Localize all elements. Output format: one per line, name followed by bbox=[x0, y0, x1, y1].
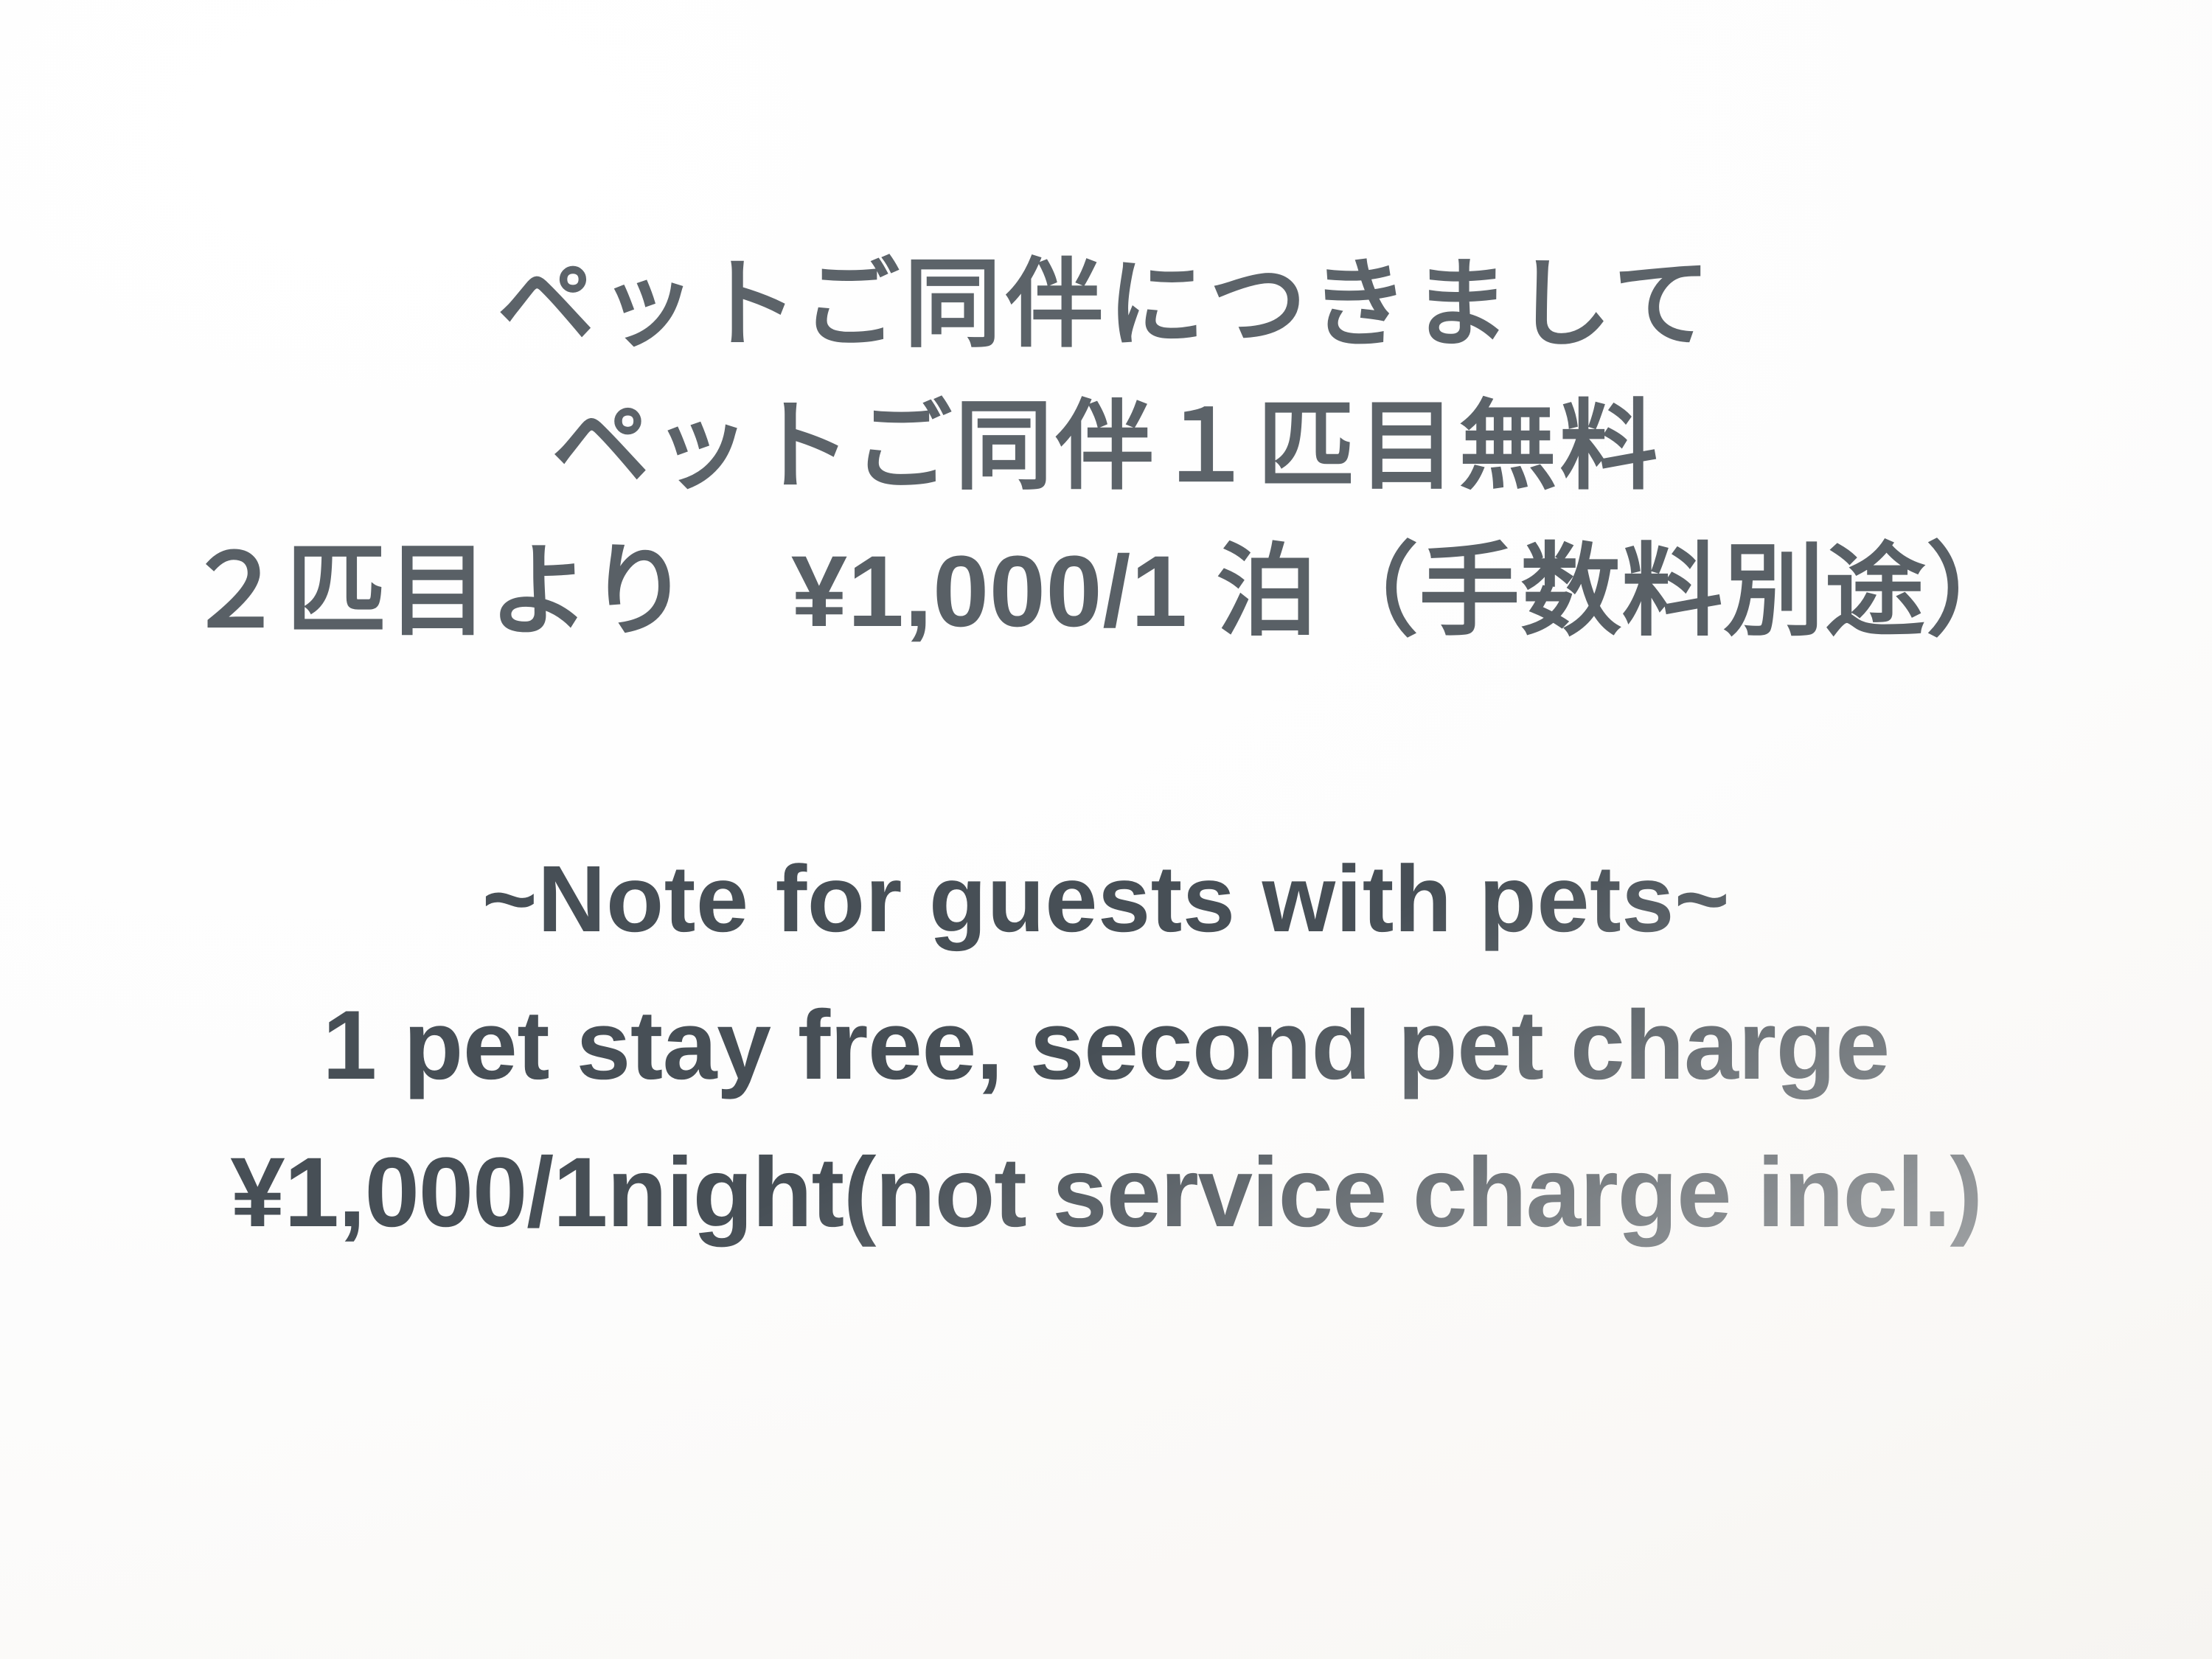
pet-policy-notice: ペットご同伴につきまして ペットご同伴１匹目無料 ２匹目より ¥1,000/1 … bbox=[0, 0, 2212, 1659]
japanese-heading: ペットご同伴につきまして bbox=[0, 234, 2212, 375]
japanese-text-block: ペットご同伴につきまして ペットご同伴１匹目無料 ２匹目より ¥1,000/1 … bbox=[0, 234, 2212, 665]
english-second-pet-fee-line: ¥1,000/1night(not service charge incl.) bbox=[0, 1119, 2212, 1267]
japanese-second-pet-fee-line: ２匹目より ¥1,000/1 泊（手数料別途） bbox=[0, 519, 2212, 665]
english-first-pet-free-line: 1 pet stay free, second pet charge bbox=[0, 972, 2212, 1119]
english-heading: ~Note for guests with pets~ bbox=[0, 827, 2212, 972]
notice-paper-background: ペットご同伴につきまして ペットご同伴１匹目無料 ２匹目より ¥1,000/1 … bbox=[0, 0, 2212, 1659]
english-text-block: ~Note for guests with pets~ 1 pet stay f… bbox=[0, 827, 2212, 1267]
japanese-first-pet-free-line: ペットご同伴１匹目無料 bbox=[0, 375, 2212, 519]
